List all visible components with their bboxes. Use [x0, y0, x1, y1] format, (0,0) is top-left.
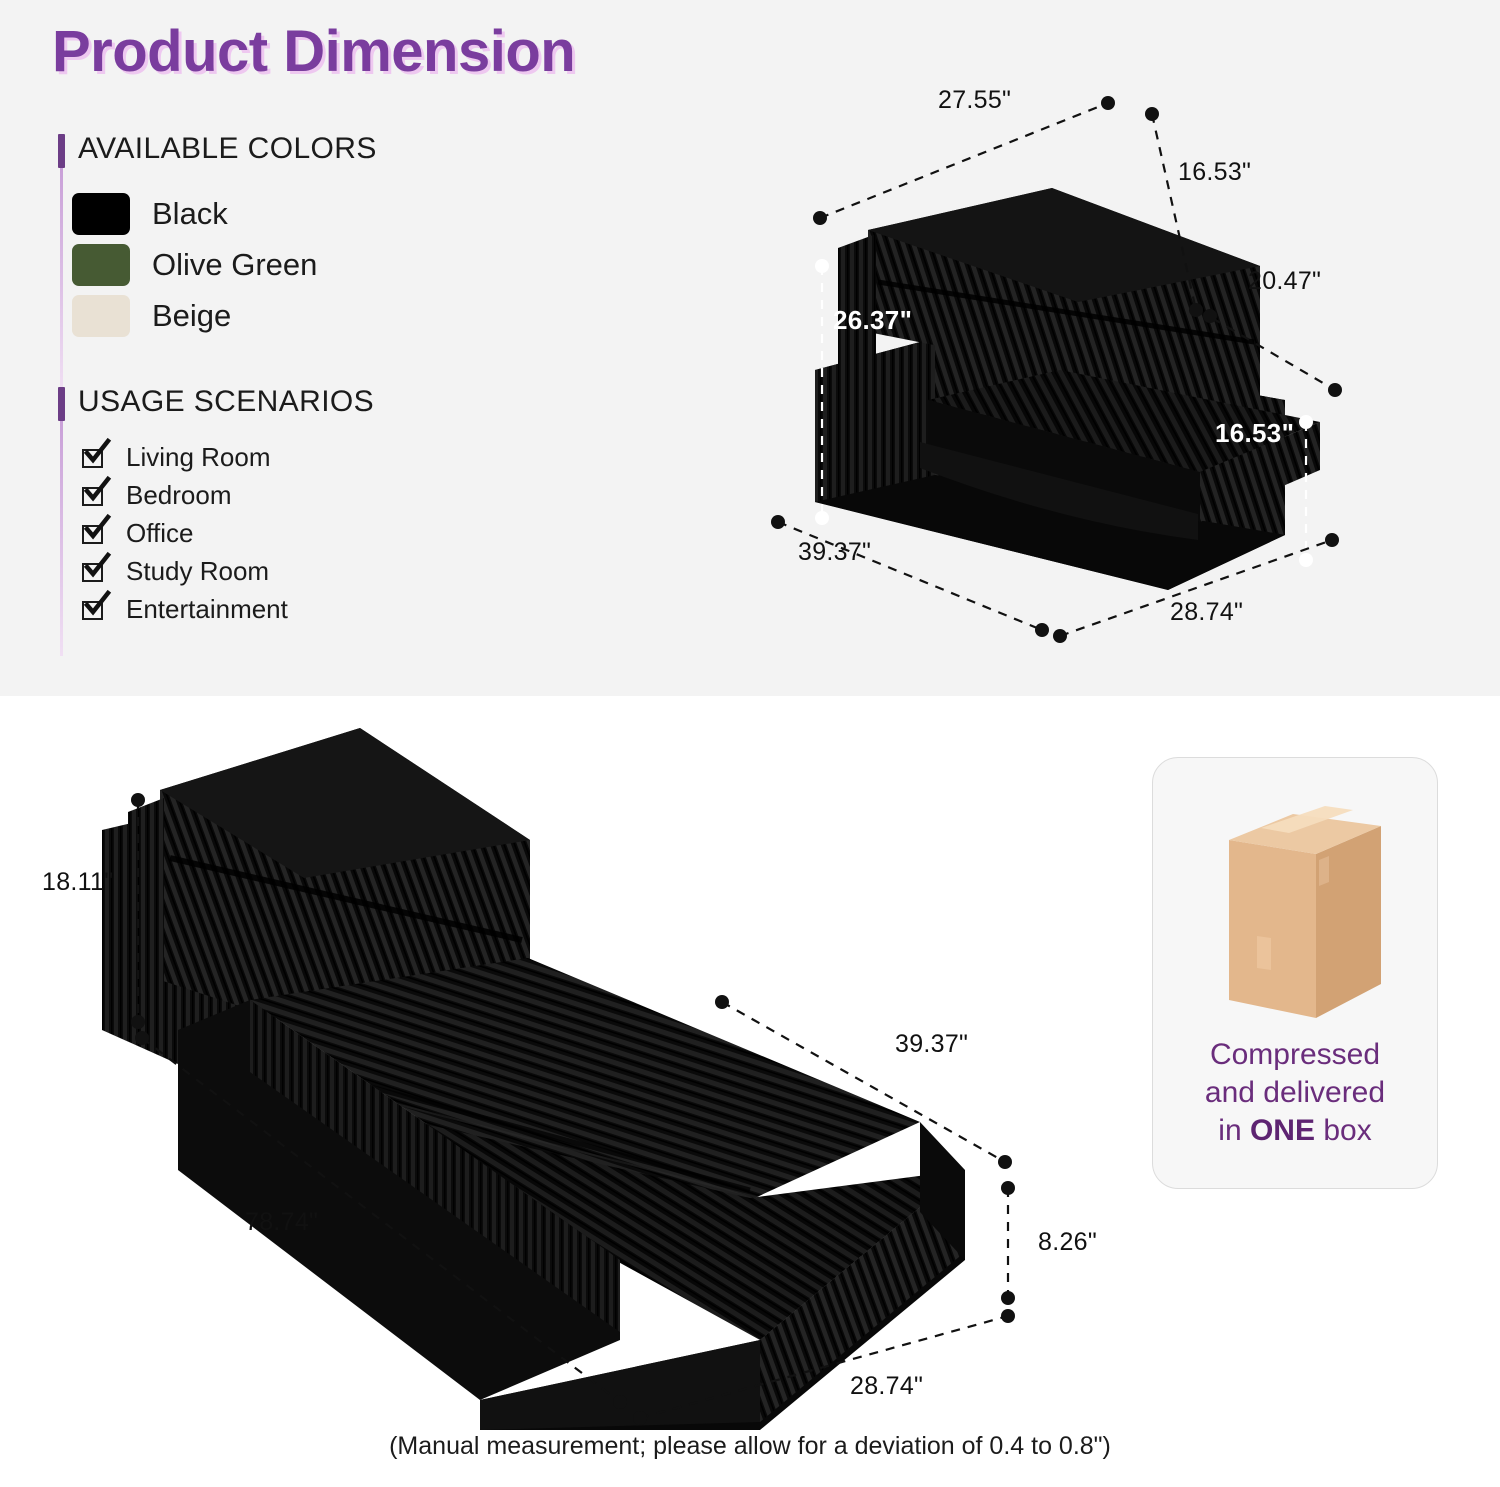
caption-line-3-pre: in [1218, 1114, 1250, 1147]
dim-front-width: 28.74" [1170, 598, 1243, 627]
single-seat-module-figure: 27.55" 16.53" 20.47" 26.37" 16.53" 39.37… [760, 70, 1380, 650]
swatch-beige [72, 295, 130, 337]
dim-backrest-height: 16.53" [1178, 158, 1251, 187]
color-option-beige[interactable]: Beige [72, 292, 317, 340]
usage-item-study-room[interactable]: Study Room [82, 554, 288, 589]
usage-item-office[interactable]: Office [82, 516, 288, 551]
dim-back-height: 18.11" [42, 868, 113, 897]
available-colors-section: AVAILABLE COLORS [52, 132, 377, 166]
caption-line-2: and delivered [1153, 1074, 1437, 1112]
cardboard-box-icon [1153, 768, 1439, 1048]
dim-backrest-depth: 20.47" [1248, 267, 1321, 296]
color-option-olive-green[interactable]: Olive Green [72, 241, 317, 289]
checkbox-checked-icon [82, 561, 106, 583]
dim-top-width: 27.55" [938, 86, 1011, 115]
accent-tail-colors [60, 168, 63, 393]
color-label: Beige [152, 298, 231, 334]
caption-line-3: in ONE box [1153, 1112, 1437, 1150]
checkbox-checked-icon [82, 447, 106, 469]
usage-label: Entertainment [126, 594, 288, 625]
usage-scenarios-heading: USAGE SCENARIOS [52, 385, 374, 419]
product-dimension-infographic: Product Dimension AVAILABLE COLORS Black… [0, 0, 1500, 1487]
usage-label: Study Room [126, 556, 269, 587]
caption-one-emphasis: ONE [1250, 1114, 1315, 1147]
usage-item-bedroom[interactable]: Bedroom [82, 478, 288, 513]
caption-line-3-post: box [1315, 1114, 1372, 1147]
measurement-disclaimer: (Manual measurement; please allow for a … [0, 1432, 1500, 1461]
usage-scenarios-section: USAGE SCENARIOS [52, 385, 374, 419]
packaging-caption: Compressed and delivered in ONE box [1153, 1036, 1437, 1149]
usage-label: Bedroom [126, 480, 232, 511]
accent-tail-usage [60, 421, 63, 656]
usage-label: Office [126, 518, 193, 549]
color-swatch-list: Black Olive Green Beige [72, 190, 317, 343]
color-label: Black [152, 196, 228, 232]
dim-seat-height: 16.53" [1215, 418, 1294, 449]
swatch-olive-green [72, 244, 130, 286]
usage-label: Living Room [126, 442, 271, 473]
available-colors-heading: AVAILABLE COLORS [52, 132, 377, 166]
checkbox-checked-icon [82, 599, 106, 621]
usage-scenario-list: Living Room Bedroom Office [82, 440, 288, 630]
dim-total-height: 26.37" [833, 305, 912, 336]
caption-line-1: Compressed [1153, 1036, 1437, 1074]
dim-bed-width: 28.74" [850, 1372, 923, 1401]
color-option-black[interactable]: Black [72, 190, 317, 238]
dim-side-depth: 39.37" [798, 538, 871, 567]
checkbox-checked-icon [82, 485, 106, 507]
unfolded-sofa-bed-figure: 18.11" 78.74" 39.37" 8.26" 28.74" [60, 700, 1120, 1430]
packaging-card: Compressed and delivered in ONE box [1152, 757, 1438, 1189]
usage-item-living-room[interactable]: Living Room [82, 440, 288, 475]
page-title: Product Dimension [52, 18, 575, 85]
usage-item-entertainment[interactable]: Entertainment [82, 592, 288, 627]
dim-seat-depth: 39.37" [895, 1030, 968, 1059]
dim-total-length: 78.74" [245, 1208, 318, 1237]
swatch-black [72, 193, 130, 235]
sofa-bed-illustration [60, 700, 1120, 1430]
checkbox-checked-icon [82, 523, 106, 545]
top-panel: Product Dimension AVAILABLE COLORS Black… [0, 0, 1500, 696]
dim-bed-height: 8.26" [1038, 1228, 1097, 1257]
color-label: Olive Green [152, 247, 317, 283]
